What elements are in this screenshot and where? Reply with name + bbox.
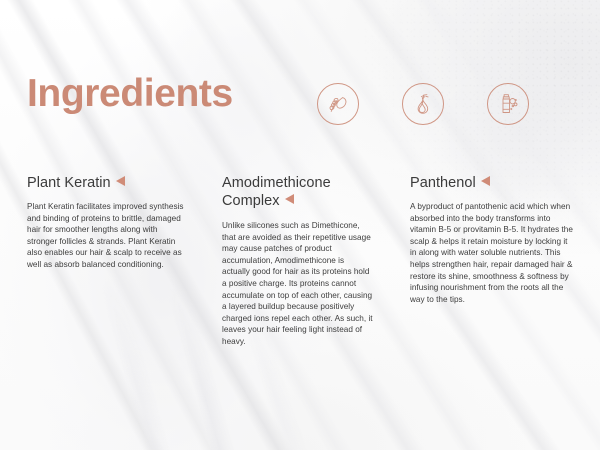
slide-content: Ingredients (0, 0, 600, 450)
ingredient-heading-text: Plant Keratin (27, 175, 111, 191)
product-bottle-icon (495, 91, 521, 117)
ingredient-heading: Plant Keratin (27, 174, 187, 192)
icon-badge-plant-keratin (317, 83, 359, 125)
ingredient-body-text: A byproduct of pantothenic acid which wh… (410, 201, 575, 305)
icon-badge-row (317, 83, 529, 125)
ingredient-body-text: Unlike silicones such as Dimethicone, th… (222, 220, 374, 348)
ingredient-body-text: Plant Keratin facilitates improved synth… (27, 201, 187, 271)
triangle-left-icon (116, 176, 125, 186)
ingredient-column-panthenol: Panthenol A byproduct of pantothenic aci… (410, 174, 575, 305)
ingredients-slide: Ingredients (0, 0, 600, 450)
page-title: Ingredients (27, 74, 233, 113)
triangle-left-icon (481, 176, 490, 186)
wheat-grain-icon (325, 91, 351, 117)
triangle-left-icon (285, 194, 294, 204)
hair-follicle-icon (410, 91, 436, 117)
ingredient-heading: Amodimethicone Complex (222, 174, 374, 210)
ingredient-column-amodimethicone-complex: Amodimethicone Complex Unlike silicones … (222, 174, 374, 348)
ingredient-heading-text: Amodimethicone Complex (222, 175, 331, 209)
ingredient-heading: Panthenol (410, 174, 575, 192)
ingredient-heading-text: Panthenol (410, 175, 476, 191)
icon-badge-product-bottle (487, 83, 529, 125)
icon-badge-hair-follicle (402, 83, 444, 125)
ingredient-column-plant-keratin: Plant Keratin Plant Keratin facilitates … (27, 174, 187, 271)
